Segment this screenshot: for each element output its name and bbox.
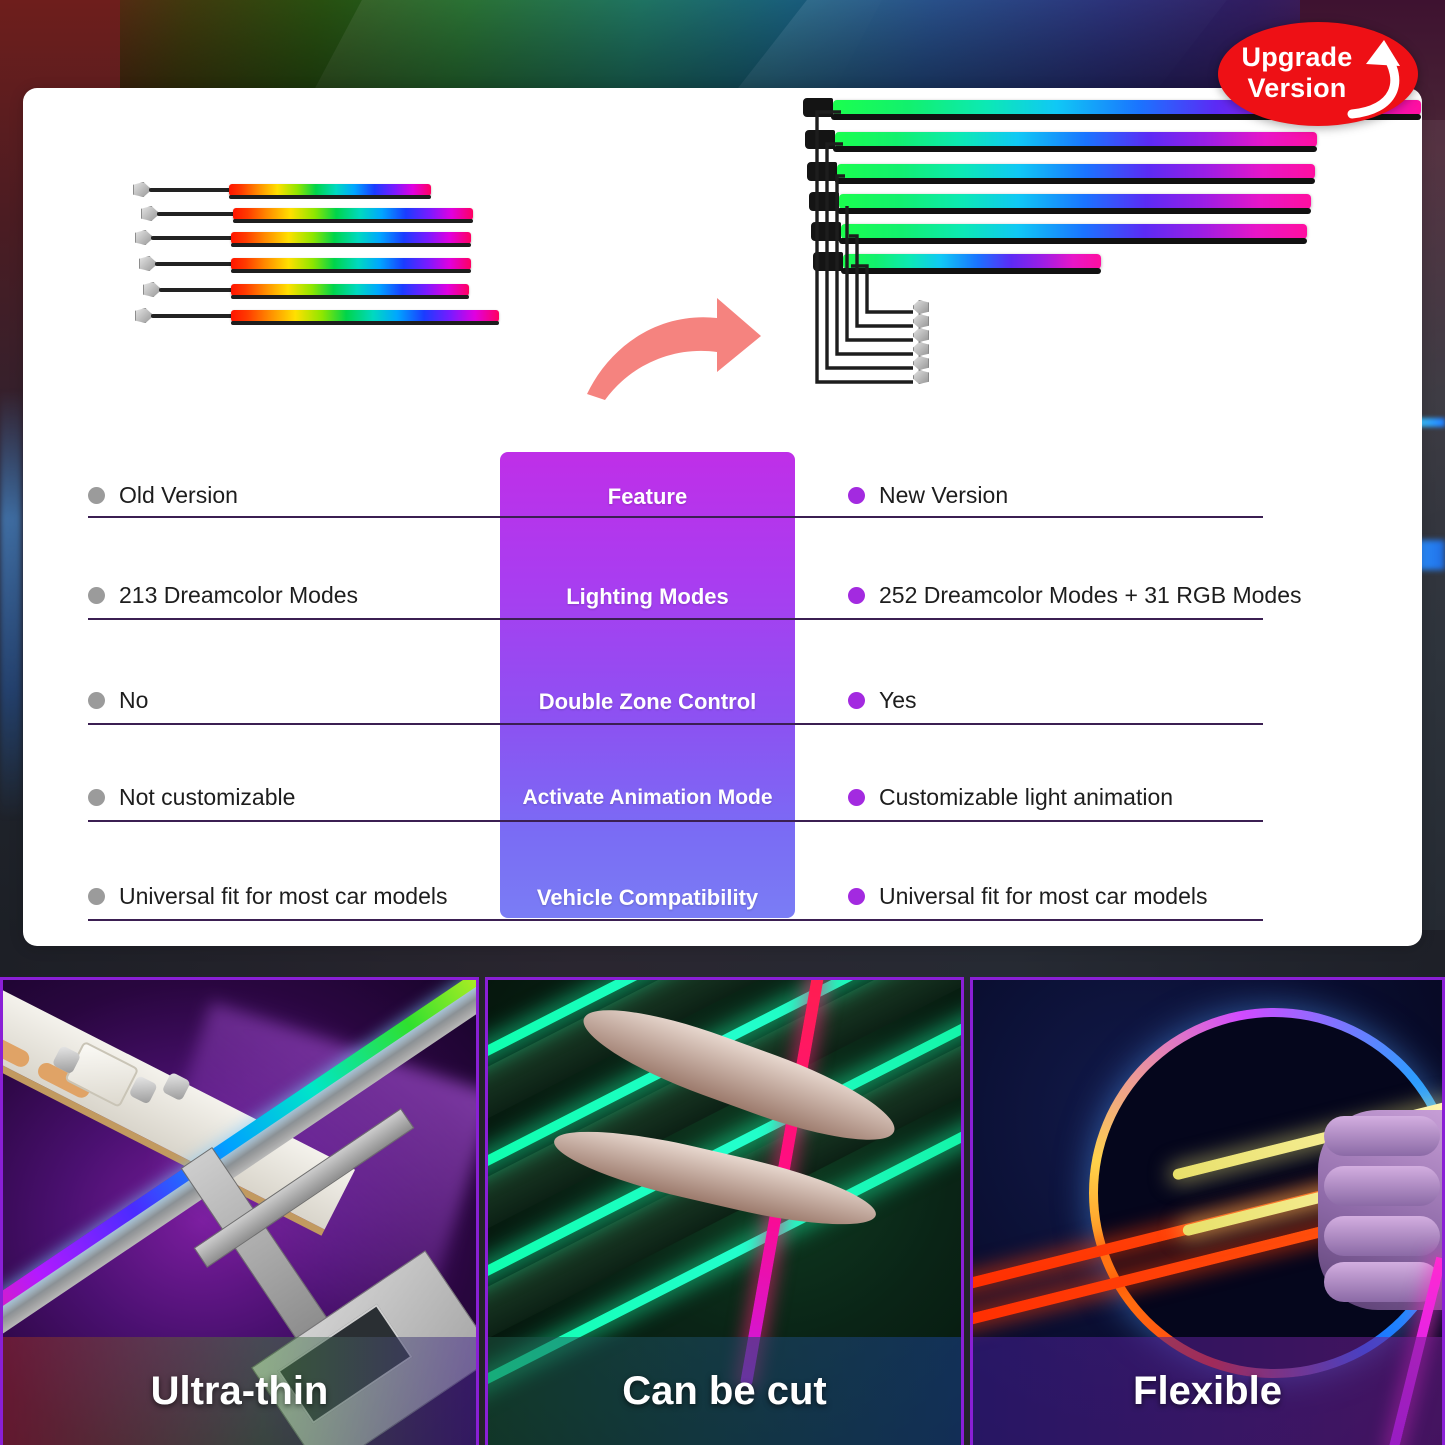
product-hero-illustration <box>23 88 1422 428</box>
bullet-dot-old-icon <box>88 587 105 604</box>
row-old-text: Universal fit for most car models <box>119 883 447 910</box>
connector-icon <box>135 230 152 245</box>
upgrade-version-badge: Upgrade Version <box>1218 22 1418 126</box>
row-new-text: Customizable light animation <box>879 784 1173 811</box>
header-new-label: New Version <box>879 482 1008 509</box>
led-tube <box>231 310 499 322</box>
connector-icon <box>141 206 158 221</box>
background-left-blue-glow <box>0 390 22 820</box>
wire <box>151 314 233 318</box>
connector-icon <box>139 256 156 271</box>
feature-column-background <box>500 452 795 918</box>
row-old-cell: Not customizable <box>88 784 488 811</box>
row-old-cell: Universal fit for most car models <box>88 883 488 910</box>
connector-icon <box>133 182 150 197</box>
feature-panel-ultra-thin: Ultra-thin <box>0 977 479 1445</box>
old-strip-5 <box>143 284 483 296</box>
wire <box>159 288 233 292</box>
wire <box>149 188 231 192</box>
feature-panels: Ultra-thin Can be cut Flexible <box>0 977 1445 1445</box>
row-new-cell: Customizable light animation <box>848 784 1358 811</box>
bullet-dot-old-icon <box>88 789 105 806</box>
row-feature-text: Double Zone Control <box>500 689 795 715</box>
wire <box>151 236 233 240</box>
row-old-cell: No <box>88 687 488 714</box>
row-feature-text: Activate Animation Mode <box>500 786 795 810</box>
row-old-text: 213 Dreamcolor Modes <box>119 582 358 609</box>
bullet-dot-new-icon <box>848 789 865 806</box>
bullet-dot-new-icon <box>848 692 865 709</box>
bullet-dot-new-icon <box>848 487 865 504</box>
table-divider <box>88 618 1263 620</box>
finger <box>1324 1116 1440 1156</box>
feature-panel-flexible: Flexible <box>970 977 1445 1445</box>
bullet-dot-old-icon <box>88 888 105 905</box>
row-new-text: Universal fit for most car models <box>879 883 1207 910</box>
finger <box>1324 1262 1440 1302</box>
table-divider <box>88 820 1263 822</box>
row-old-text: No <box>119 687 148 714</box>
led-tube <box>229 184 431 196</box>
comparison-card: Old Version Feature New Version 213 Drea… <box>23 88 1422 946</box>
row-old-text: Not customizable <box>119 784 295 811</box>
header-old-version: Old Version <box>88 482 488 509</box>
curved-right-arrow-icon <box>579 284 769 404</box>
header-old-label: Old Version <box>119 482 238 509</box>
panel3-caption: Flexible <box>973 1337 1442 1445</box>
row-feature-text: Lighting Modes <box>500 584 795 610</box>
row-old-cell: 213 Dreamcolor Modes <box>88 582 488 609</box>
row-new-cell: Yes <box>848 687 1358 714</box>
wire-harness <box>793 96 973 396</box>
bullet-dot-new-icon <box>848 888 865 905</box>
header-feature-label: Feature <box>500 484 795 510</box>
connector-icon <box>143 282 160 297</box>
wire <box>157 212 235 216</box>
row-new-text: 252 Dreamcolor Modes + 31 RGB Modes <box>879 582 1302 609</box>
finger <box>1324 1216 1440 1256</box>
led-tube <box>231 284 469 296</box>
bullet-dot-old-icon <box>88 487 105 504</box>
panel2-caption: Can be cut <box>488 1337 961 1445</box>
wire <box>155 262 233 266</box>
table-divider <box>88 919 1263 921</box>
curved-up-arrow-icon <box>1332 30 1412 120</box>
row-feature-text: Vehicle Compatibility <box>500 885 795 911</box>
bullet-dot-new-icon <box>848 587 865 604</box>
header-new-version: New Version <box>848 482 1358 509</box>
old-strip-2 <box>141 208 481 220</box>
led-tube <box>233 208 473 220</box>
hand-holding-strip <box>1318 1110 1445 1310</box>
row-new-text: Yes <box>879 687 917 714</box>
finger <box>1324 1166 1440 1206</box>
table-divider <box>88 723 1263 725</box>
bullet-dot-old-icon <box>88 692 105 709</box>
panel1-caption: Ultra-thin <box>3 1337 476 1445</box>
led-tube <box>231 232 471 244</box>
old-strip-1 <box>133 184 433 196</box>
connector-icon <box>135 308 152 323</box>
led-tube <box>231 258 471 270</box>
old-strip-3 <box>135 232 480 244</box>
comparison-table: Old Version Feature New Version 213 Drea… <box>23 460 1422 944</box>
table-divider <box>88 516 1263 518</box>
old-strip-6 <box>135 310 505 322</box>
row-new-cell: 252 Dreamcolor Modes + 31 RGB Modes <box>848 582 1358 609</box>
feature-panel-can-be-cut: Can be cut <box>485 977 964 1445</box>
solder-pad <box>0 1029 32 1070</box>
row-new-cell: Universal fit for most car models <box>848 883 1358 910</box>
old-strip-4 <box>139 258 484 270</box>
